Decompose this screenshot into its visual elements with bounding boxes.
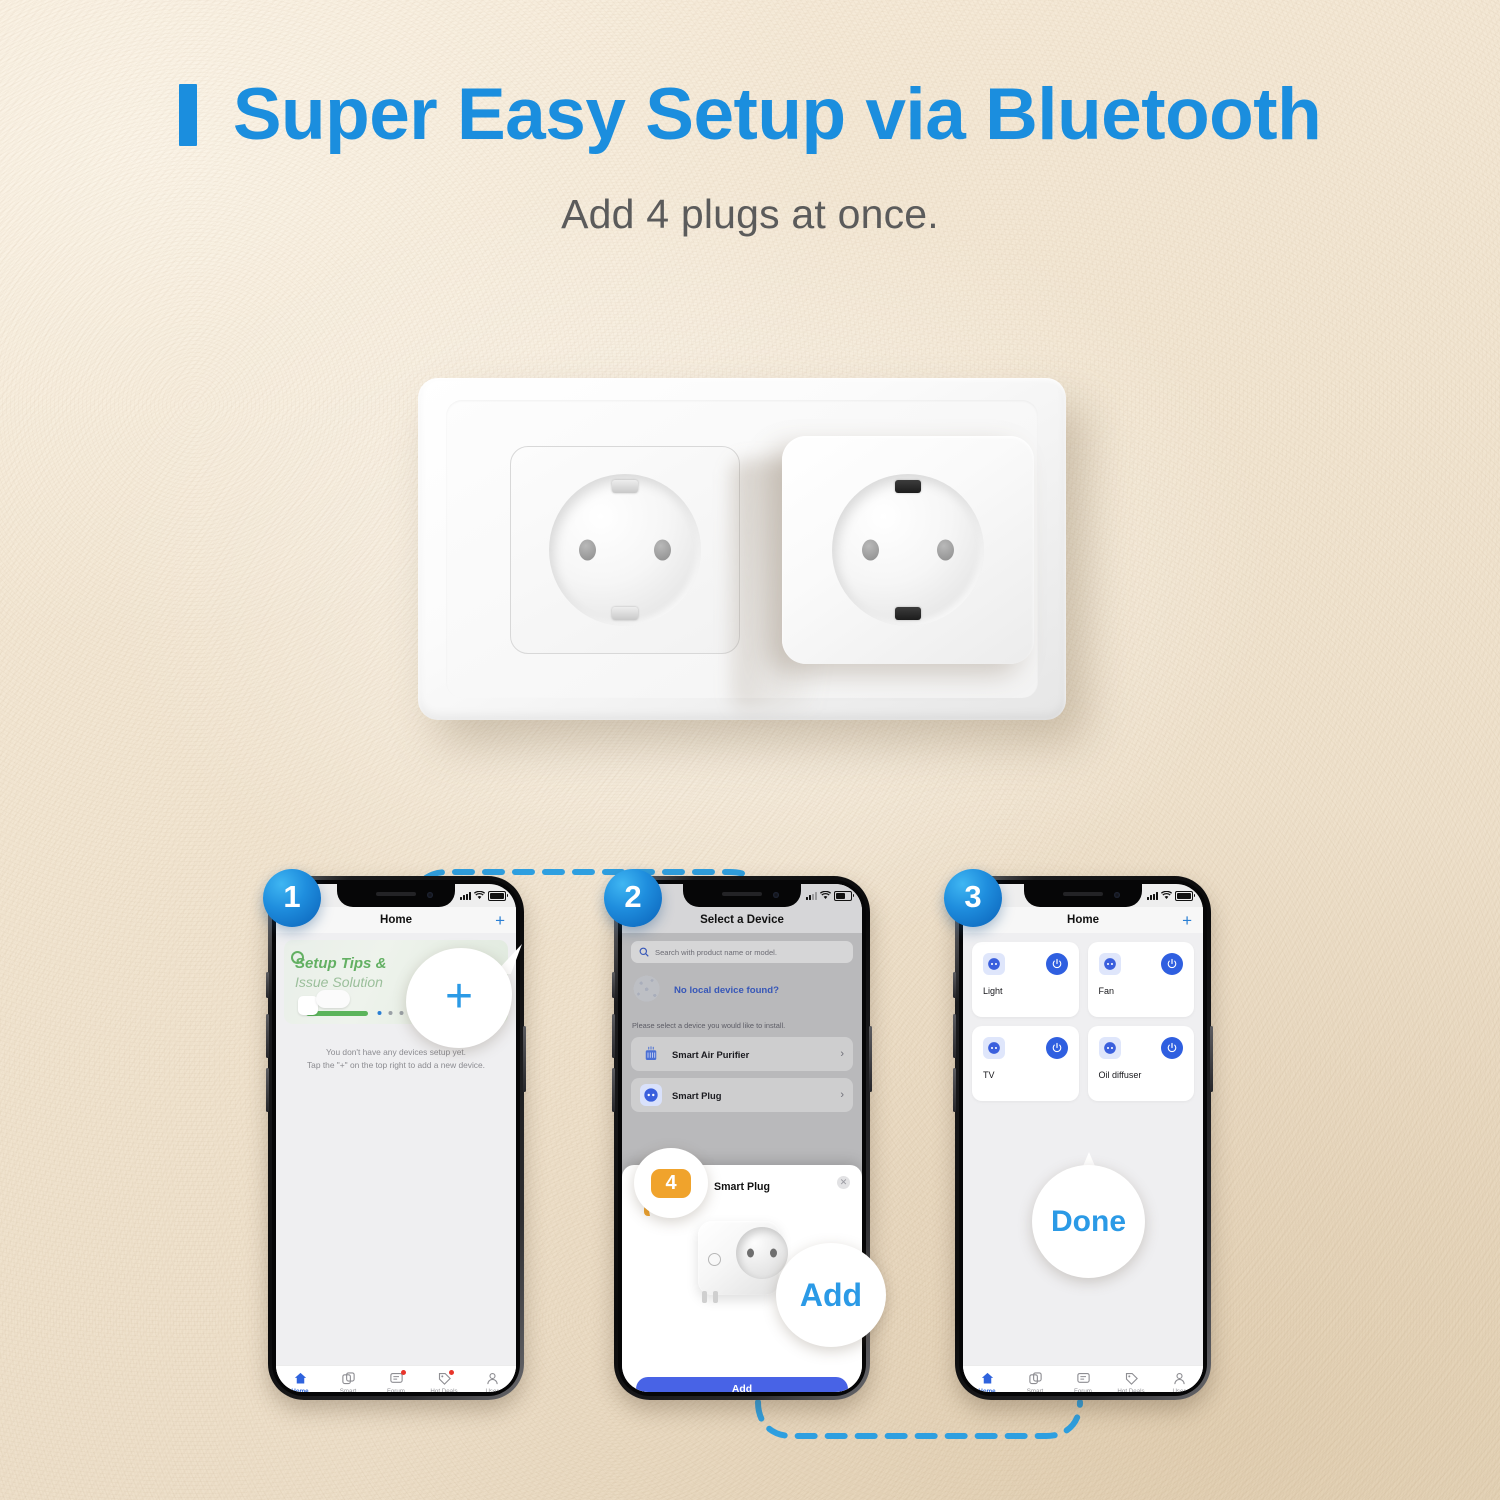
forum-icon bbox=[1076, 1371, 1091, 1386]
mute-switch[interactable] bbox=[266, 972, 269, 998]
close-icon[interactable]: ✕ bbox=[837, 1176, 850, 1189]
plug-prongs bbox=[702, 1291, 720, 1303]
tab-smart[interactable]: Smart bbox=[1011, 1371, 1059, 1392]
smart-plug-device bbox=[782, 436, 1034, 664]
tab-label: Smart bbox=[1027, 1388, 1044, 1392]
chevron-right-icon: › bbox=[840, 1048, 844, 1060]
plug-power-button bbox=[708, 1253, 721, 1266]
search-icon bbox=[639, 947, 649, 957]
device-cluster-icon bbox=[631, 973, 665, 1007]
phone-notch bbox=[337, 884, 455, 907]
phone-screen: 4 arch Home + bbox=[963, 884, 1203, 1392]
earpiece-speaker bbox=[376, 892, 416, 896]
title-accent-bar bbox=[179, 84, 197, 146]
tab-label: Home bbox=[291, 1388, 308, 1392]
home-icon bbox=[293, 1371, 308, 1386]
socket-round-left bbox=[549, 474, 701, 626]
device-card[interactable]: TV bbox=[972, 1026, 1079, 1101]
tab-label: User bbox=[1172, 1388, 1185, 1392]
tab-label: Forum bbox=[387, 1388, 405, 1392]
smart-icon bbox=[1028, 1371, 1043, 1386]
wifi-icon bbox=[474, 891, 485, 900]
search-placeholder: Search with product name or model. bbox=[655, 948, 777, 957]
plug-hole-left bbox=[747, 1249, 754, 1258]
pager-dot[interactable] bbox=[378, 1011, 382, 1015]
tab-user[interactable]: User bbox=[468, 1371, 516, 1392]
tab-label: Home bbox=[978, 1388, 995, 1392]
battery-icon bbox=[834, 891, 852, 901]
user-icon bbox=[485, 1371, 500, 1386]
select-device-hint: Please select a device you would like to… bbox=[632, 1021, 852, 1030]
smart-plug-icon bbox=[1099, 953, 1121, 975]
done-callout-bubble: Done bbox=[1032, 1165, 1145, 1278]
step-badge-1: 1 bbox=[263, 869, 321, 927]
pager-dot[interactable] bbox=[389, 1011, 393, 1015]
tab-forum[interactable]: Forum bbox=[1059, 1371, 1107, 1392]
front-camera-icon bbox=[773, 892, 779, 898]
device-name: TV bbox=[983, 1070, 995, 1080]
notification-badge bbox=[449, 1370, 454, 1375]
power-button[interactable] bbox=[1210, 1026, 1213, 1092]
add-device-button[interactable]: + bbox=[1182, 912, 1192, 929]
volume-up-button[interactable] bbox=[266, 1014, 269, 1058]
device-name: Light bbox=[983, 986, 1003, 996]
status-bar-right bbox=[806, 891, 852, 901]
smart-plug-pin-left bbox=[862, 540, 879, 561]
status-bar-right bbox=[1147, 891, 1193, 901]
smart-plug-clip-bottom bbox=[895, 607, 921, 620]
mute-switch[interactable] bbox=[953, 972, 956, 998]
wifi-icon bbox=[1161, 891, 1172, 900]
tab-user[interactable]: User bbox=[1155, 1371, 1203, 1392]
volume-down-button[interactable] bbox=[612, 1068, 615, 1112]
add-callout-label: Add bbox=[800, 1277, 862, 1314]
signal-icon bbox=[1147, 892, 1158, 900]
empty-state-line1: You don't have any devices setup yet. bbox=[286, 1046, 506, 1059]
tag-icon bbox=[1124, 1371, 1139, 1386]
pager-dot[interactable] bbox=[400, 1011, 404, 1015]
header: Super Easy Setup via Bluetooth Add 4 plu… bbox=[0, 78, 1500, 238]
title-row: Super Easy Setup via Bluetooth bbox=[0, 78, 1500, 151]
tab-label: Hot Deals bbox=[1117, 1388, 1144, 1392]
wifi-icon bbox=[820, 891, 831, 900]
battery-icon bbox=[488, 891, 506, 901]
smart-plug-icon bbox=[640, 1084, 662, 1106]
empty-state-message: You don't have any devices setup yet. Ta… bbox=[276, 1046, 516, 1072]
power-toggle-button[interactable] bbox=[1161, 953, 1183, 975]
tab-label: Hot Deals bbox=[430, 1388, 457, 1392]
step-badge-2: 2 bbox=[604, 869, 662, 927]
banner-line1: Setup Tips & bbox=[295, 955, 386, 972]
device-name: Smart Plug bbox=[672, 1090, 830, 1101]
notification-badge bbox=[401, 1370, 406, 1375]
tab-smart[interactable]: Smart bbox=[324, 1371, 372, 1392]
status-bar-right bbox=[460, 891, 506, 901]
device-card[interactable]: Oil diffuser bbox=[1088, 1026, 1195, 1101]
tab-forum[interactable]: Forum bbox=[372, 1371, 420, 1392]
phone2-nav-title: Select a Device bbox=[700, 914, 784, 926]
device-card[interactable]: Light bbox=[972, 942, 1079, 1017]
tab-hot-deals[interactable]: Hot Deals bbox=[420, 1371, 468, 1392]
device-name: Smart Air Purifier bbox=[672, 1049, 830, 1060]
power-button[interactable] bbox=[869, 1026, 872, 1092]
socket-clip-top bbox=[612, 480, 638, 493]
phone3-tab-bar: Home Smart Forum Hot Deals User bbox=[963, 1365, 1203, 1392]
air-purifier-icon bbox=[640, 1043, 662, 1065]
done-callout-label: Done bbox=[1051, 1205, 1126, 1239]
tab-hot-deals[interactable]: Hot Deals bbox=[1107, 1371, 1155, 1392]
device-grid: Light Fan TV Oil diffuser bbox=[963, 933, 1203, 1101]
banner-shape-2 bbox=[316, 990, 350, 1008]
mute-switch[interactable] bbox=[612, 972, 615, 998]
phone-notch bbox=[1024, 884, 1142, 907]
socket-pin-left bbox=[579, 540, 596, 561]
smart-plug-icon bbox=[983, 1037, 1005, 1059]
phone1-tab-bar: Home Smart Forum Hot Deals bbox=[276, 1365, 516, 1392]
smart-plug-clip-top bbox=[895, 480, 921, 493]
earpiece-speaker bbox=[722, 892, 762, 896]
step-badge-3: 3 bbox=[944, 869, 1002, 927]
user-icon bbox=[1172, 1371, 1187, 1386]
socket-clip-bottom bbox=[612, 607, 638, 620]
tab-label: Forum bbox=[1074, 1388, 1092, 1392]
home-icon bbox=[980, 1371, 995, 1386]
front-camera-icon bbox=[1114, 892, 1120, 898]
device-row-smart-plug[interactable]: Smart Plug › bbox=[631, 1078, 853, 1112]
power-button[interactable] bbox=[523, 1026, 526, 1092]
search-input[interactable]: Search with product name or model. bbox=[631, 941, 853, 963]
smart-plug-icon bbox=[1099, 1037, 1121, 1059]
tab-label: Smart bbox=[340, 1388, 357, 1392]
smart-icon bbox=[341, 1371, 356, 1386]
signal-icon bbox=[806, 892, 817, 900]
phone1-nav-title: Home bbox=[380, 914, 412, 926]
smart-plug-pin-right bbox=[937, 540, 954, 561]
socket-outlet-left bbox=[510, 446, 740, 654]
device-row-air-purifier[interactable]: Smart Air Purifier › bbox=[631, 1037, 853, 1071]
add-callout-bubble: Add bbox=[776, 1243, 886, 1347]
chevron-right-icon: › bbox=[840, 1089, 844, 1101]
tab-home[interactable]: Home bbox=[963, 1371, 1011, 1392]
power-toggle-button[interactable] bbox=[1046, 1037, 1068, 1059]
phone3-content: arch Home + Light Fan bbox=[963, 907, 1203, 1392]
phone-mockup-step-3: 4 arch Home + bbox=[955, 876, 1211, 1400]
quantity-callout-label: 4 bbox=[651, 1169, 690, 1198]
tab-label: User bbox=[485, 1388, 498, 1392]
banner-shape-1 bbox=[298, 996, 318, 1015]
phone3-nav-title: Home bbox=[1067, 914, 1099, 926]
tab-home[interactable]: Home bbox=[276, 1371, 324, 1392]
volume-up-button[interactable] bbox=[953, 1014, 956, 1058]
signal-icon bbox=[460, 892, 471, 900]
add-device-button[interactable]: + bbox=[495, 912, 505, 929]
volume-up-button[interactable] bbox=[612, 1014, 615, 1058]
page-subtitle: Add 4 plugs at once. bbox=[0, 191, 1500, 238]
banner-line2: Issue Solution bbox=[295, 974, 383, 990]
smart-plug-face bbox=[832, 474, 984, 626]
plug-socket-face bbox=[736, 1227, 788, 1279]
socket-faceplate bbox=[418, 378, 1066, 720]
device-name: Fan bbox=[1099, 986, 1115, 996]
earpiece-speaker bbox=[1063, 892, 1103, 896]
wall-socket-photo bbox=[418, 378, 1078, 738]
phone3-nav-bar: Home + bbox=[963, 907, 1203, 933]
no-local-device-link[interactable]: No local device found? bbox=[674, 985, 779, 996]
device-name: Oil diffuser bbox=[1099, 1070, 1142, 1080]
battery-icon bbox=[1175, 891, 1193, 901]
add-button[interactable]: Add bbox=[636, 1377, 848, 1392]
socket-pin-right bbox=[654, 540, 671, 561]
power-toggle-button[interactable] bbox=[1046, 953, 1068, 975]
volume-down-button[interactable] bbox=[953, 1068, 956, 1112]
power-toggle-button[interactable] bbox=[1161, 1037, 1183, 1059]
page-title: Super Easy Setup via Bluetooth bbox=[233, 78, 1321, 151]
no-local-device-row[interactable]: No local device found? bbox=[631, 973, 853, 1007]
empty-state-line2: Tap the "+" on the top right to add a ne… bbox=[286, 1059, 506, 1072]
banner-product-art bbox=[298, 990, 372, 1016]
quantity-callout-bubble: 4 bbox=[634, 1148, 708, 1218]
phone-notch bbox=[683, 884, 801, 907]
volume-down-button[interactable] bbox=[266, 1068, 269, 1112]
device-card[interactable]: Fan bbox=[1088, 942, 1195, 1017]
front-camera-icon bbox=[427, 892, 433, 898]
socket-inner-plate bbox=[446, 400, 1038, 698]
plug-hole-right bbox=[770, 1249, 777, 1258]
smart-plug-icon bbox=[983, 953, 1005, 975]
